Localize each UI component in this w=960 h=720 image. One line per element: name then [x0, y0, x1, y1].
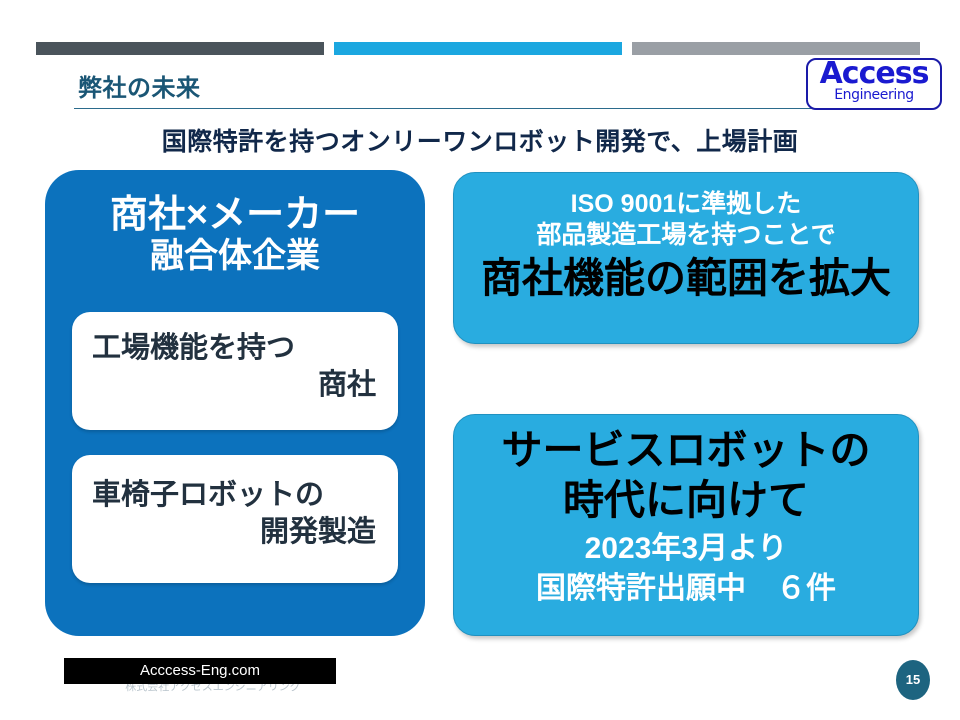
right-box-iso: ISO 9001に準拠した 部品製造工場を持つことで 商社機能の範囲を拡大 — [453, 172, 919, 344]
access-engineering-logo: Access Engineering — [806, 58, 942, 110]
right-box-service-robot: サービスロボットの 時代に向けて 2023年3月より 国際特許出願中 ６件 — [453, 414, 919, 636]
card-2-line2: 開発製造 — [92, 514, 376, 551]
right-box-robot-line1: サービスロボットの — [462, 427, 910, 475]
card-1-line2: 商社 — [92, 367, 376, 404]
left-panel-card-1: 工場機能を持つ 商社 — [72, 312, 398, 430]
right-box-iso-line3: 商社機能の範囲を拡大 — [462, 255, 910, 303]
right-box-iso-line2: 部品製造工場を持つことで — [462, 221, 910, 250]
left-panel-heading: 商社×メーカー 融合体企業 — [45, 194, 425, 275]
right-box-iso-line1: ISO 9001に準拠した — [462, 190, 910, 219]
left-blue-panel: 商社×メーカー 融合体企業 工場機能を持つ 商社 車椅子ロボットの 開発製造 — [45, 170, 425, 636]
topbar-segment-dark — [36, 42, 324, 55]
right-box-robot-line2: 時代に向けて — [462, 477, 910, 525]
slide-headline: 国際特許を持つオンリーワンロボット開発で、上場計画 — [0, 122, 960, 158]
right-box-robot-line3: 2023年3月より — [462, 532, 910, 567]
left-panel-card-2: 車椅子ロボットの 開発製造 — [72, 455, 398, 583]
title-divider — [74, 108, 864, 109]
footer-url-band: Acccess-Eng.com — [64, 658, 336, 684]
card-1-line1: 工場機能を持つ — [92, 330, 376, 367]
logo-sub-text: Engineering — [808, 87, 940, 103]
footer-url-text: Acccess-Eng.com — [64, 662, 336, 679]
topbar-segment-cyan — [334, 42, 622, 55]
page-title: 弊社の未来 — [78, 68, 201, 103]
card-2-line1: 車椅子ロボットの — [92, 477, 376, 514]
slide-canvas: 弊社の未来 Access Engineering 国際特許を持つオンリーワンロボ… — [0, 0, 960, 720]
left-panel-card-1-text: 工場機能を持つ 商社 — [92, 330, 376, 404]
left-panel-card-2-text: 車椅子ロボットの 開発製造 — [92, 477, 376, 551]
page-number-badge: 15 — [896, 660, 930, 700]
right-box-robot-line4: 国際特許出願中 ６件 — [462, 572, 910, 607]
topbar-segment-gray — [632, 42, 920, 55]
left-panel-heading-line2: 融合体企業 — [45, 237, 425, 275]
left-panel-heading-line1: 商社×メーカー — [45, 194, 425, 237]
page-number-text: 15 — [896, 672, 930, 687]
